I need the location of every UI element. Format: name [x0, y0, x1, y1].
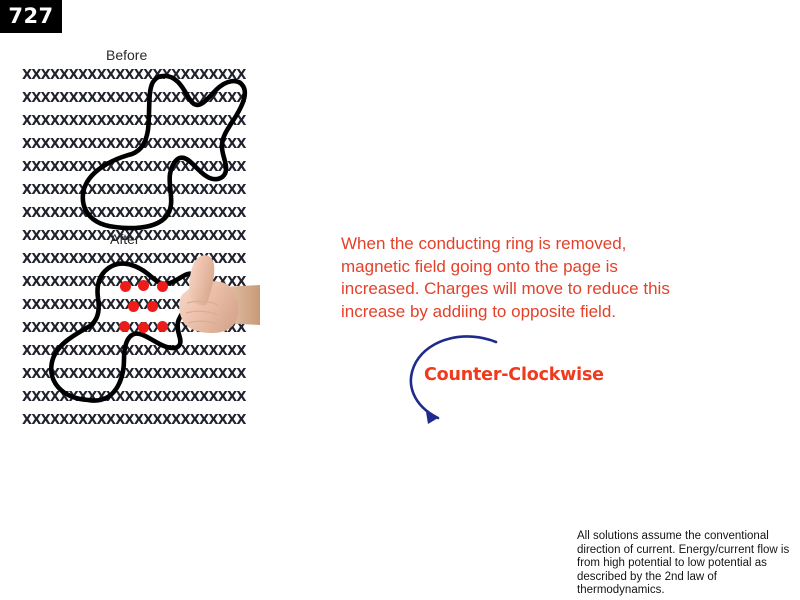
explanation-text: When the conducting ring is removed, mag…	[341, 233, 691, 323]
slide-number-badge: 727	[0, 0, 62, 33]
before-conducting-ring	[60, 72, 260, 222]
before-panel-label: Before	[106, 47, 147, 63]
footer-disclaimer-note: All solutions assume the conventional di…	[577, 530, 792, 598]
after-panel-label: After	[110, 231, 140, 247]
slide-number-text: 727	[8, 6, 53, 27]
before-ring-outline	[83, 76, 245, 228]
thumbs-up-hand-image	[160, 253, 260, 348]
counter-clockwise-label: Counter-Clockwise	[424, 365, 604, 385]
